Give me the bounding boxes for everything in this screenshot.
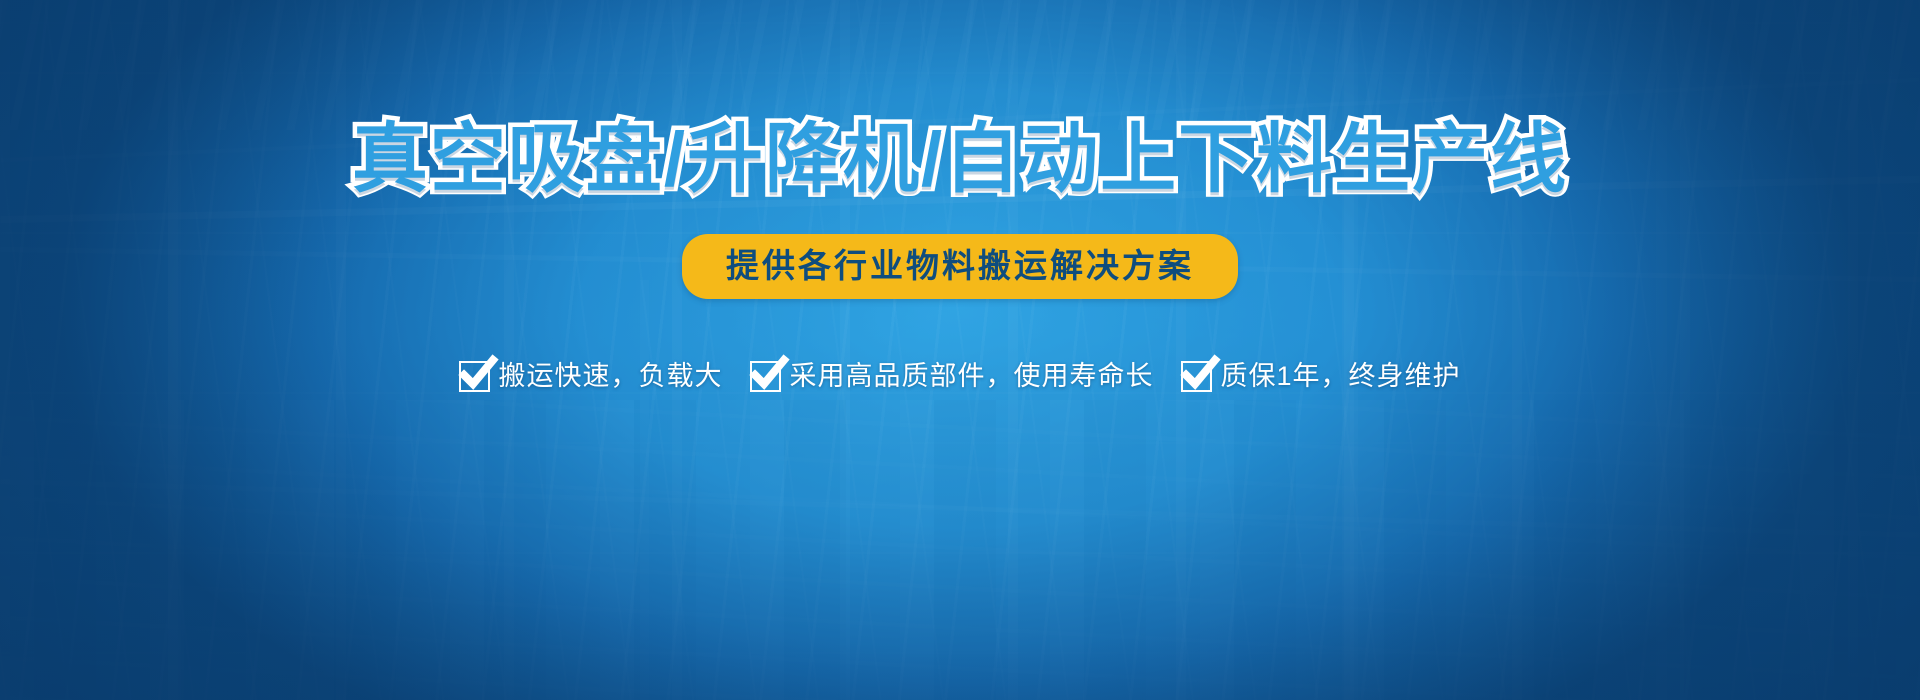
feature-label: 搬运快速，负载大 [498, 363, 722, 390]
feature-item: 质保1年，终身维护 [1181, 361, 1460, 392]
banner-content: 真空吸盘/升降机/自动上下料生产线 提供各行业物料搬运解决方案 搬运快速，负载大… [0, 0, 1920, 700]
feature-list: 搬运快速，负载大 采用高品质部件，使用寿命长 质保1年，终身维护 [459, 361, 1460, 392]
feature-label: 质保1年，终身维护 [1220, 363, 1460, 390]
check-icon [459, 361, 490, 392]
feature-label: 采用高品质部件，使用寿命长 [789, 363, 1153, 390]
feature-item: 搬运快速，负载大 [459, 361, 722, 392]
hero-banner: 真空吸盘/升降机/自动上下料生产线 提供各行业物料搬运解决方案 搬运快速，负载大… [0, 0, 1920, 700]
banner-title: 真空吸盘/升降机/自动上下料生产线 [352, 122, 1568, 198]
check-icon [1181, 361, 1212, 392]
banner-subtitle-pill: 提供各行业物料搬运解决方案 [682, 234, 1238, 299]
feature-item: 采用高品质部件，使用寿命长 [750, 361, 1153, 392]
check-icon [750, 361, 781, 392]
